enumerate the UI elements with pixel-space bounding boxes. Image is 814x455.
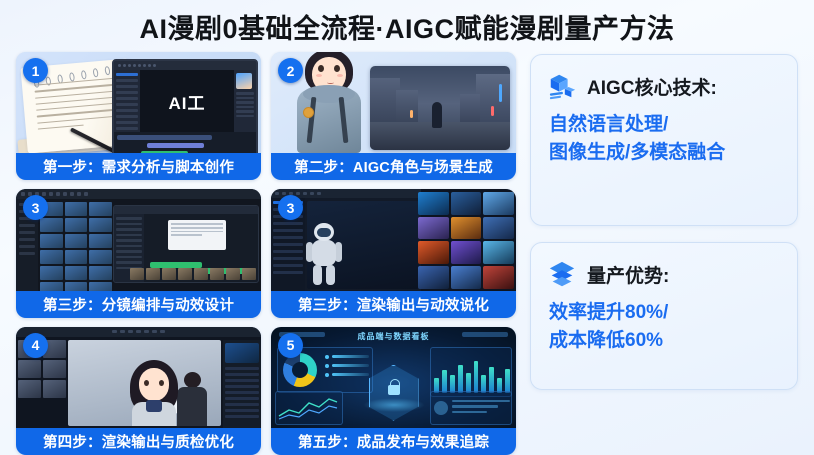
panel-aigc-core-tech: AIGC核心技术: 自然语言处理/ 图像生成/多模态融合 xyxy=(530,54,798,226)
cube-icon xyxy=(547,71,577,101)
step-card-3-media xyxy=(16,189,261,290)
editor-right-panel xyxy=(234,70,256,132)
step-card-grid: AI工 1 第一步：需求分析与脚本创作 xyxy=(16,52,516,455)
step-card-6-media: 成品端与数据看板 xyxy=(271,327,516,428)
donut-chart xyxy=(283,353,317,387)
sidebar: AIGC核心技术: 自然语言处理/ 图像生成/多模态融合 量产优势: 效率提升8… xyxy=(530,52,798,455)
timeline-window xyxy=(113,205,259,283)
panel-title-aigc: AIGC核心技术: xyxy=(587,73,717,100)
qc-preview-stage xyxy=(68,340,221,426)
step-badge-5: 4 xyxy=(23,333,48,358)
avatar xyxy=(236,73,252,89)
step-card-2-media xyxy=(271,52,516,153)
step-card-3[interactable]: 3 第三步：分镜编排与动效设计 xyxy=(16,189,261,317)
step-card-2[interactable]: 2 第二步：AIGC角色与场景生成 xyxy=(271,52,516,180)
panel-line-mass-2: 成本降低60% xyxy=(547,327,783,355)
dashboard-title: 成品端与数据看板 xyxy=(271,331,516,342)
panel-line-aigc-2: 图像生成/多模态融合 xyxy=(547,139,783,167)
editor-canvas-text: AI工 xyxy=(169,89,206,114)
line-chart xyxy=(277,394,339,422)
panel-mass-production: 量产优势: 效率提升80%/ 成本降低60% xyxy=(530,242,798,390)
silhouette-figure xyxy=(432,102,442,128)
editor-left-panel xyxy=(114,70,140,132)
page-header: AI漫剧0基础全流程·AIGC赋能漫剧量产方法 xyxy=(0,0,814,52)
step-badge-6: 5 xyxy=(278,333,303,358)
page-title: AI漫剧0基础全流程·AIGC赋能漫剧量产方法 xyxy=(139,7,674,46)
step-badge-2: 2 xyxy=(278,58,303,83)
qc-toolbar xyxy=(16,327,261,337)
step-card-4-media xyxy=(271,189,516,290)
editor-screen: AI工 xyxy=(112,59,258,153)
step-label-4: 第三步：渲染输出与动效说化 xyxy=(271,291,516,318)
step-card-1-media: AI工 xyxy=(16,52,261,153)
panel-header: AIGC核心技术: xyxy=(547,71,783,101)
qc-inspector-panel xyxy=(223,340,261,428)
panel-line-mass-1: 效率提升80%/ xyxy=(547,299,783,327)
kpi-list xyxy=(325,355,369,382)
hexagon-shield-icon xyxy=(369,365,419,421)
notebook-text-lines xyxy=(34,78,122,136)
editor-timeline xyxy=(114,132,256,153)
editor-titlebar xyxy=(114,61,256,70)
step-label-2: 第二步：AIGC角色与场景生成 xyxy=(271,153,516,180)
summary-list xyxy=(434,394,510,422)
hologram-base xyxy=(363,398,425,412)
panel-header: 量产优势: xyxy=(547,259,783,289)
layers-icon xyxy=(547,259,577,289)
filmstrip xyxy=(130,268,256,280)
panel-line-aigc-1: 自然语言处理/ xyxy=(547,111,783,139)
step-card-5-media xyxy=(16,327,261,428)
step-label-3: 第三步：分镜编排与动效设计 xyxy=(16,291,261,318)
bar-chart xyxy=(434,357,510,393)
app-toolbar xyxy=(16,189,261,199)
step-label-6: 第五步：成品发布与效果追踪 xyxy=(271,428,516,455)
foreground-character xyxy=(124,360,184,426)
editor-canvas: AI工 xyxy=(140,70,234,132)
image-gallery xyxy=(418,192,514,288)
editor-body: AI工 xyxy=(114,70,256,132)
step-badge-1: 1 xyxy=(23,58,48,83)
lock-icon xyxy=(388,385,400,395)
dialog-box xyxy=(168,220,226,250)
rainy-street-scene xyxy=(370,66,510,150)
step-card-4[interactable]: 3 第三步：渲染输出与动效说化 xyxy=(271,189,516,317)
step-label-5: 第四步：渲染输出与质检优化 xyxy=(16,428,261,455)
step-label-1: 第一步：需求分析与脚本创作 xyxy=(16,153,261,180)
main-content: AI工 1 第一步：需求分析与脚本创作 xyxy=(0,52,814,455)
panel-title-mass: 量产优势: xyxy=(587,261,669,288)
shot-thumbnail-grid xyxy=(40,202,112,290)
step-card-1[interactable]: AI工 1 第一步：需求分析与脚本创作 xyxy=(16,52,261,180)
step-card-6[interactable]: 成品端与数据看板 xyxy=(271,327,516,455)
step-card-5[interactable]: 4 第四步：渲染输出与质检优化 xyxy=(16,327,261,455)
astronaut-render xyxy=(307,223,341,285)
